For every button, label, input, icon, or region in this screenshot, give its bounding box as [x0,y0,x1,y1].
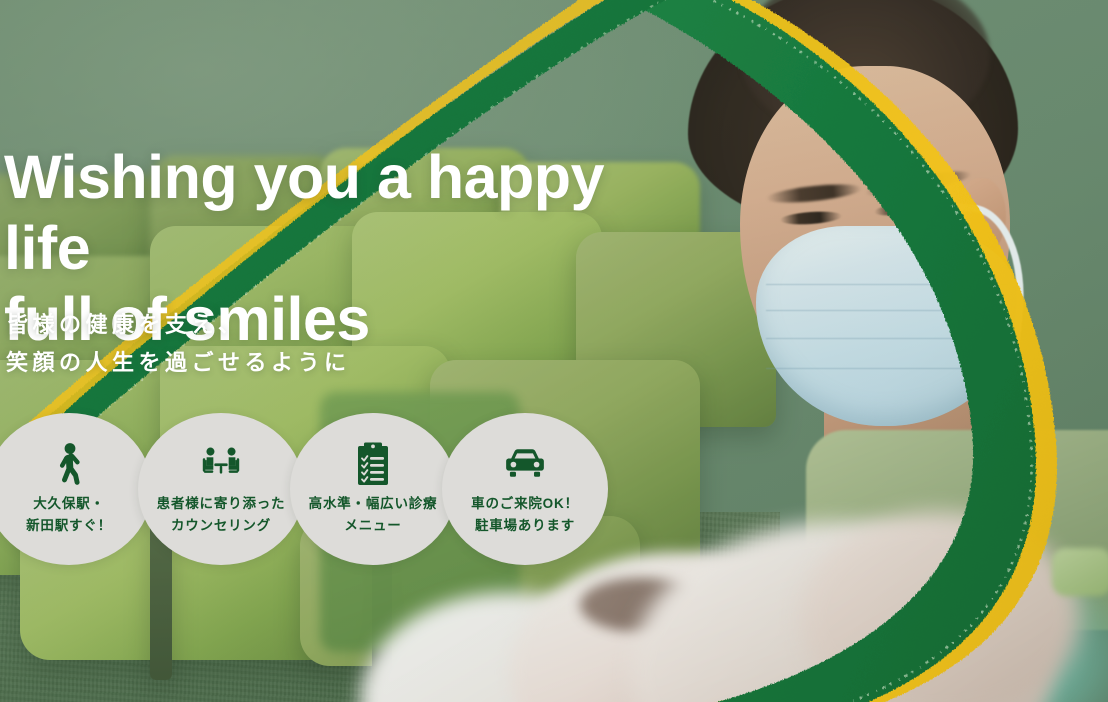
hero-banner: Wishing you a happy life full of smiles … [0,0,1108,702]
badge-parking[interactable]: 車のご来院OK！ 駐車場あります [442,413,608,565]
badge-station-access[interactable]: 大久保駅・ 新田駅すぐ！ [0,413,152,565]
hero-subheadline: 皆様の健康を支え、 笑顔の人生を過ごせるように [6,306,351,382]
car-front-icon [502,441,548,487]
badge-label: 大久保駅・ 新田駅すぐ！ [26,493,112,537]
foreground-green-chip [1052,548,1108,596]
badge-label: 患者様に寄り添った カウンセリング [157,493,286,537]
badge-label: 高水準・幅広い診療 メニュー [309,493,438,537]
badge-label: 車のご来院OK！ 駐車場あります [471,493,579,537]
walking-person-icon [46,441,92,487]
counseling-two-people-at-table-icon [198,441,244,487]
glove-far [800,512,1080,702]
badge-treatment-menu[interactable]: 高水準・幅広い診療 メニュー [290,413,456,565]
badge-counseling[interactable]: 患者様に寄り添った カウンセリング [138,413,304,565]
feature-badge-row: 大久保駅・ 新田駅すぐ！ [0,413,594,565]
clipboard-checklist-icon [350,441,396,487]
mask-ear-loop [932,202,1033,360]
